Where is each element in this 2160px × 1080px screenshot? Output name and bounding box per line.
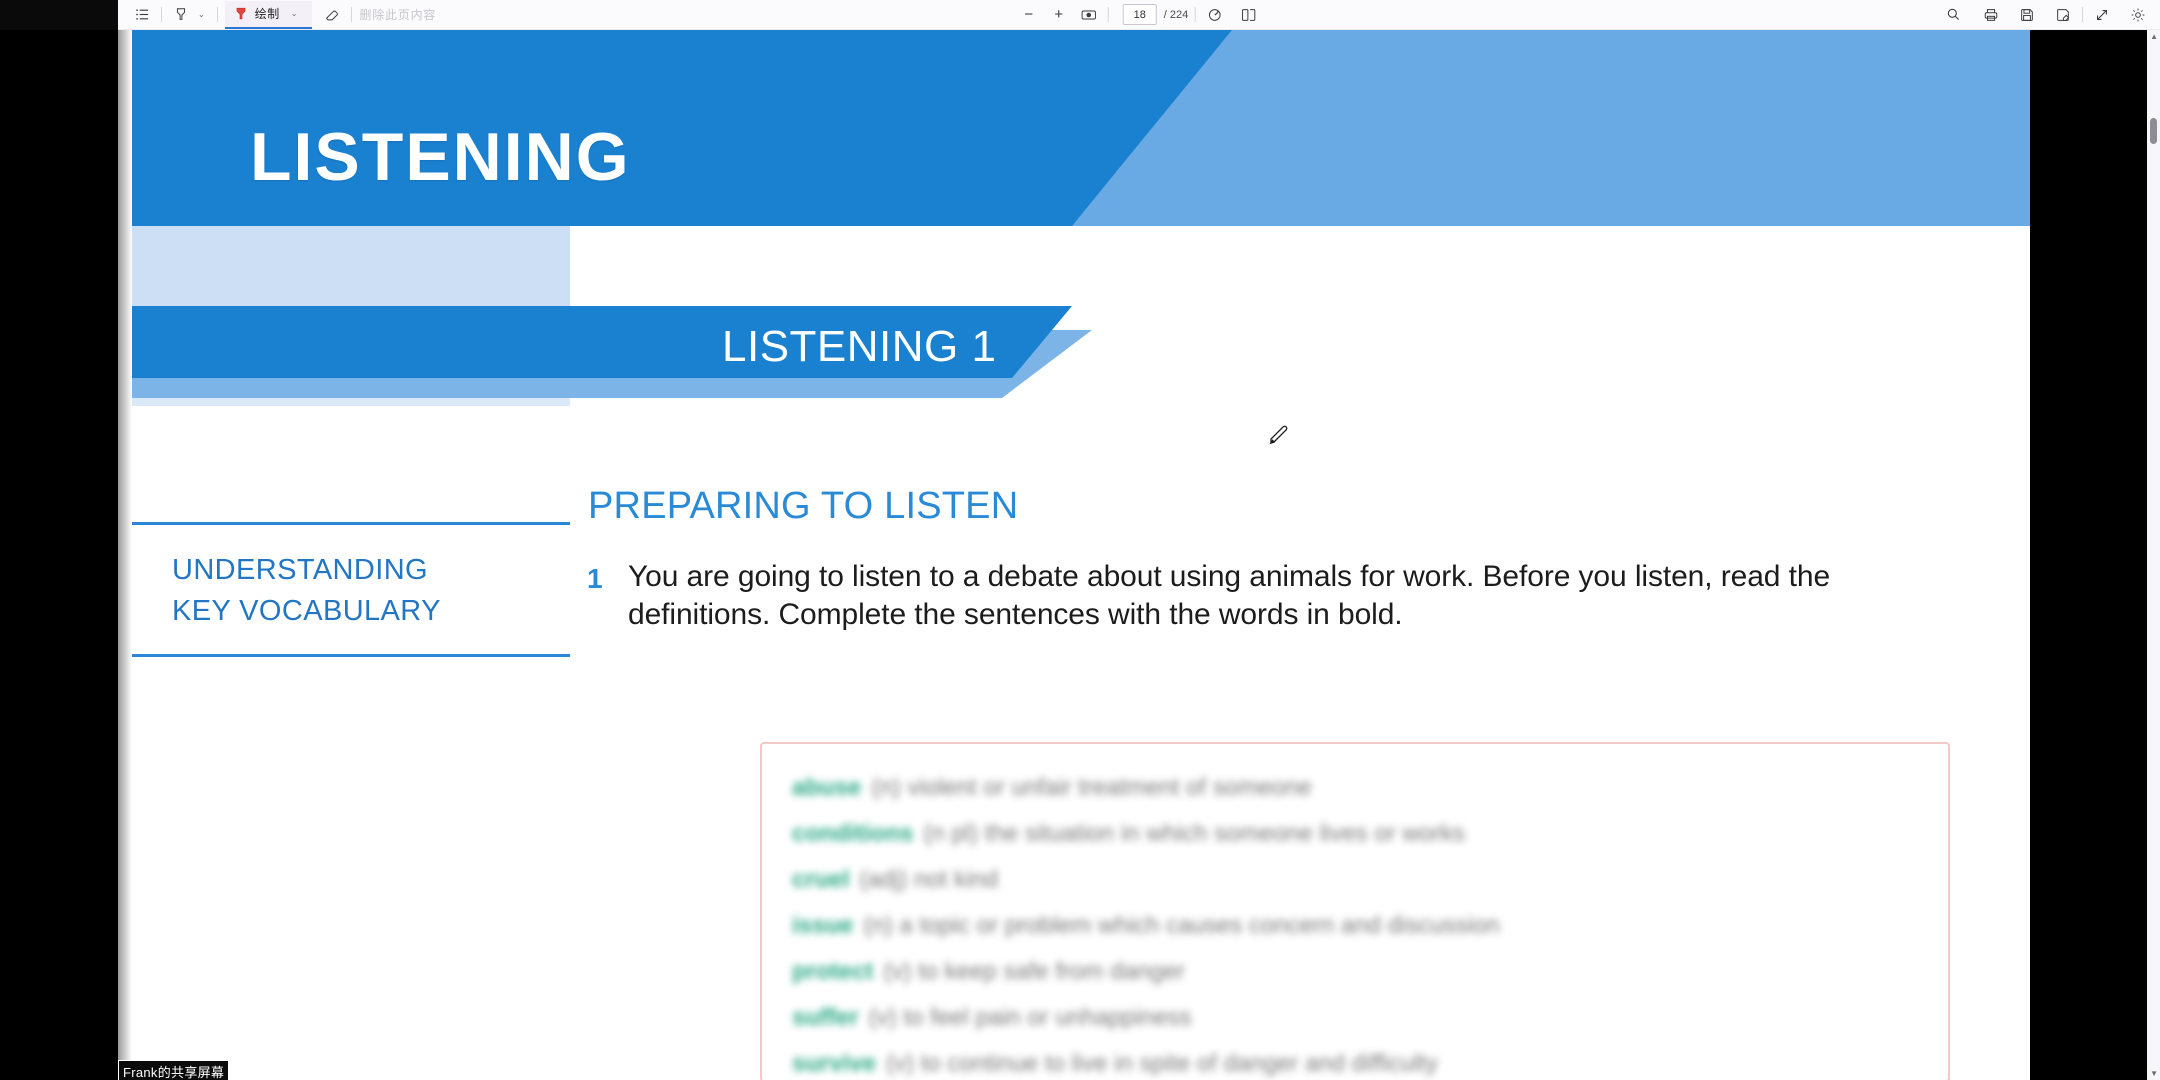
page-left-shadow [118, 30, 132, 1080]
tab-draw[interactable]: 绘制 ⌄ [225, 1, 313, 29]
scrollbar-thumb[interactable] [2150, 118, 2157, 144]
sidebar-label-line-2: KEY VOCABULARY [172, 591, 572, 632]
reader-toolbar: ⌄ 绘制 ⌄ 删除此页内容 − + [118, 0, 2160, 30]
ribbon-title: LISTENING 1 [722, 322, 996, 372]
toolbar-right-group [1941, 3, 2150, 27]
eraser-icon[interactable] [320, 3, 344, 27]
vocabulary-definition: (n pl) the situation in which someone li… [923, 820, 1465, 848]
question-number: 1 [587, 563, 603, 595]
vocabulary-entry: abuse(n) violent or unfair treatment of … [792, 774, 1948, 800]
toolbar-divider [1108, 7, 1109, 22]
scroll-down-arrow-icon[interactable]: ▼ [2150, 1069, 2158, 1078]
vocabulary-entry: survive(v) to continue to live in spite … [792, 1050, 1948, 1076]
vocabulary-entry: suffer(v) to feel pain or unhappiness [792, 1004, 1948, 1030]
vocabulary-entry: cruel(adj) not kind [792, 866, 1948, 892]
letterbox-left [0, 0, 118, 1080]
vocabulary-word: protect [792, 958, 873, 986]
highlighter-icon[interactable] [169, 3, 193, 27]
toolbar-divider [161, 7, 162, 22]
page-title: LISTENING [250, 118, 631, 196]
zoom-out-button[interactable]: − [1017, 3, 1041, 27]
toolbar-center-group: − + 18 / 224 [1017, 3, 1261, 27]
red-pen-icon [233, 6, 249, 22]
pen-cursor [1266, 422, 1292, 448]
vocabulary-box: abuse(n) violent or unfair treatment of … [760, 742, 1950, 1080]
save-as-icon[interactable] [2051, 3, 2075, 27]
gear-icon[interactable] [2126, 3, 2150, 27]
vocabulary-word: issue [792, 912, 853, 940]
toolbar-divider [351, 7, 352, 22]
vocabulary-definition: (v) to continue to live in spite of dang… [886, 1050, 1438, 1078]
vocabulary-list: abuse(n) violent or unfair treatment of … [762, 744, 1948, 1076]
vocabulary-word: suffer [792, 1004, 859, 1032]
sidebar-rule-bottom [132, 654, 570, 657]
vocabulary-entry: conditions(n pl) the situation in which … [792, 820, 1948, 846]
vocabulary-definition: (n) a topic or problem which causes conc… [863, 912, 1499, 940]
fit-page-icon[interactable] [1077, 3, 1101, 27]
toolbar-divider [1195, 7, 1196, 22]
save-icon[interactable] [2015, 3, 2039, 27]
search-icon[interactable] [1941, 3, 1965, 27]
expand-icon[interactable] [2090, 3, 2114, 27]
screen-share-label: Frank的共享屏幕 [118, 1060, 229, 1080]
clear-page-button[interactable]: 删除此页内容 [359, 6, 436, 23]
vertical-scrollbar[interactable]: ▲ ▼ [2147, 30, 2160, 1080]
highlighter-caret-icon[interactable]: ⌄ [193, 3, 210, 27]
zoom-in-button[interactable]: + [1047, 3, 1071, 27]
toolbar-left-group: ⌄ 绘制 ⌄ 删除此页内容 [118, 1, 436, 29]
vocabulary-word: survive [792, 1050, 876, 1078]
rotate-icon[interactable] [1203, 3, 1227, 27]
vocabulary-word: cruel [792, 866, 849, 894]
toolbar-divider [217, 7, 218, 22]
page-layout-icon[interactable] [1237, 3, 1261, 27]
page-total-label: / 224 [1164, 9, 1188, 21]
vocabulary-definition: (v) to feel pain or unhappiness [869, 1004, 1192, 1032]
scroll-up-arrow-icon[interactable]: ▲ [2150, 32, 2158, 41]
tab-draw-label: 绘制 [255, 5, 280, 22]
page-number-input[interactable]: 18 [1123, 4, 1157, 25]
draw-caret-icon[interactable]: ⌄ [286, 2, 303, 26]
vocabulary-entry: protect(v) to keep safe from danger [792, 958, 1948, 984]
letterbox-top-left [0, 0, 118, 30]
sidebar-key-vocabulary-label: UNDERSTANDING KEY VOCABULARY [172, 550, 572, 632]
screen-share-window: ⌄ 绘制 ⌄ 删除此页内容 − + [0, 0, 2160, 1080]
document-page: LISTENING LISTENING 1 UNDERSTANDING KEY … [132, 30, 2030, 1080]
vocabulary-definition: (adj) not kind [859, 866, 998, 894]
section-title: PREPARING TO LISTEN [588, 485, 1018, 528]
print-icon[interactable] [1979, 3, 2003, 27]
vocabulary-entry: issue(n) a topic or problem which causes… [792, 912, 1948, 938]
question-text: You are going to listen to a debate abou… [628, 558, 1938, 635]
vocabulary-word: abuse [792, 774, 861, 802]
sidebar-rule-top [132, 522, 570, 525]
toolbar-divider [2082, 7, 2083, 22]
vocabulary-word: conditions [792, 820, 913, 848]
vocabulary-definition: (v) to keep safe from danger [883, 958, 1184, 986]
list-icon[interactable] [130, 3, 154, 27]
sidebar-label-line-1: UNDERSTANDING [172, 550, 572, 591]
vocabulary-definition: (n) violent or unfair treatment of someo… [871, 774, 1311, 802]
